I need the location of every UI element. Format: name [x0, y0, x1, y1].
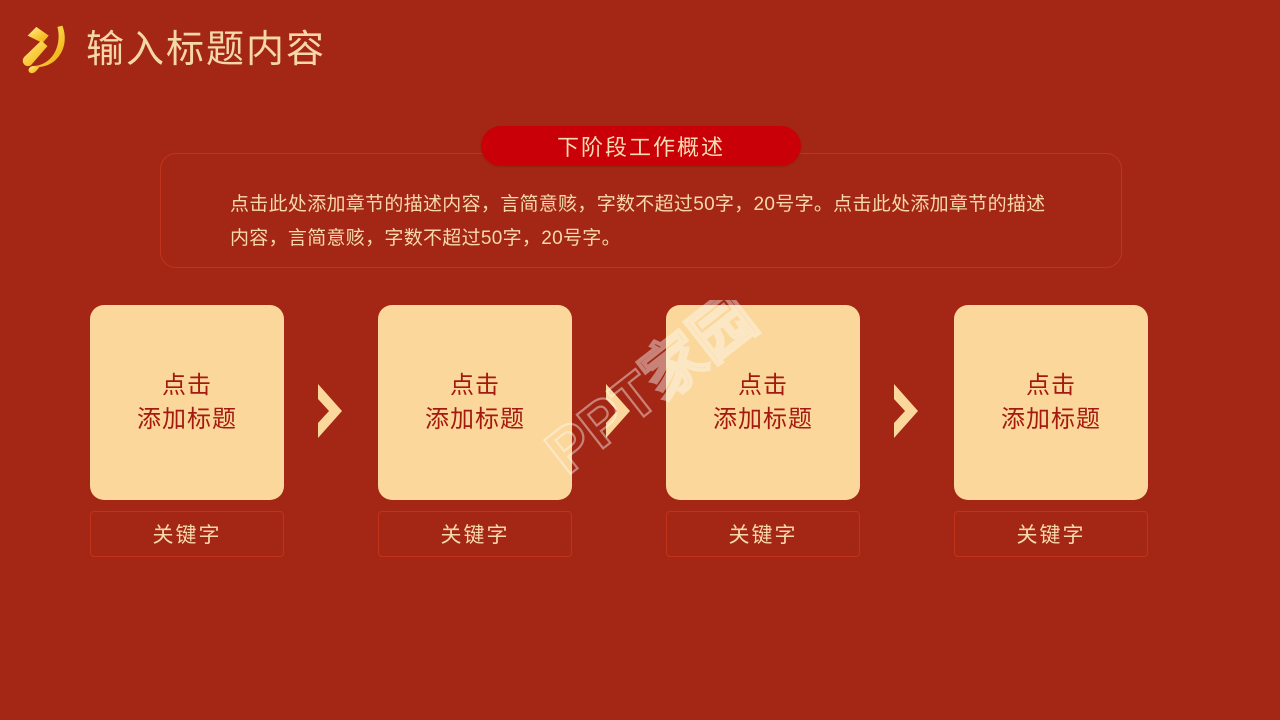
party-emblem-hammer-sickle-icon [14, 17, 76, 79]
process-step-card-1[interactable]: 点击 添加标题 [90, 305, 284, 500]
step-card-line2: 添加标题 [425, 403, 525, 437]
keyword-row: 关键字 关键字 关键字 关键字 [90, 511, 1148, 557]
step-card-line2: 添加标题 [713, 403, 813, 437]
chevron-right-icon [312, 383, 346, 439]
step-card-line1: 点击 [738, 369, 788, 403]
process-step-card-4[interactable]: 点击 添加标题 [954, 305, 1148, 500]
chevron-right-icon [600, 383, 634, 439]
keyword-box-4[interactable]: 关键字 [954, 511, 1148, 557]
keyword-box-3[interactable]: 关键字 [666, 511, 860, 557]
process-step-card-2[interactable]: 点击 添加标题 [378, 305, 572, 500]
page-title: 输入标题内容 [86, 31, 326, 69]
step-card-line1: 点击 [162, 369, 212, 403]
keyword-box-1[interactable]: 关键字 [90, 511, 284, 557]
process-step-row: 点击 添加标题 点击 添加标题 点击 添加标题 点击 添加标题 [90, 305, 1148, 500]
section-title-label: 下阶段工作概述 [557, 130, 725, 162]
slide-canvas: 输入标题内容 下阶段工作概述 点击此处添加章节的描述内容，言简意赅，字数不超过5… [0, 0, 1280, 720]
step-card-line1: 点击 [1026, 369, 1076, 403]
chevron-right-icon [888, 383, 922, 439]
process-step-card-3[interactable]: 点击 添加标题 [666, 305, 860, 500]
slide-header: 输入标题内容 [0, 0, 1280, 100]
overview-description: 点击此处添加章节的描述内容，言简意赅，字数不超过50字，20号字。点击此处添加章… [230, 188, 1050, 256]
step-card-line2: 添加标题 [1001, 403, 1101, 437]
step-card-line1: 点击 [450, 369, 500, 403]
section-title-pill: 下阶段工作概述 [481, 126, 801, 166]
keyword-box-2[interactable]: 关键字 [378, 511, 572, 557]
step-card-line2: 添加标题 [137, 403, 237, 437]
